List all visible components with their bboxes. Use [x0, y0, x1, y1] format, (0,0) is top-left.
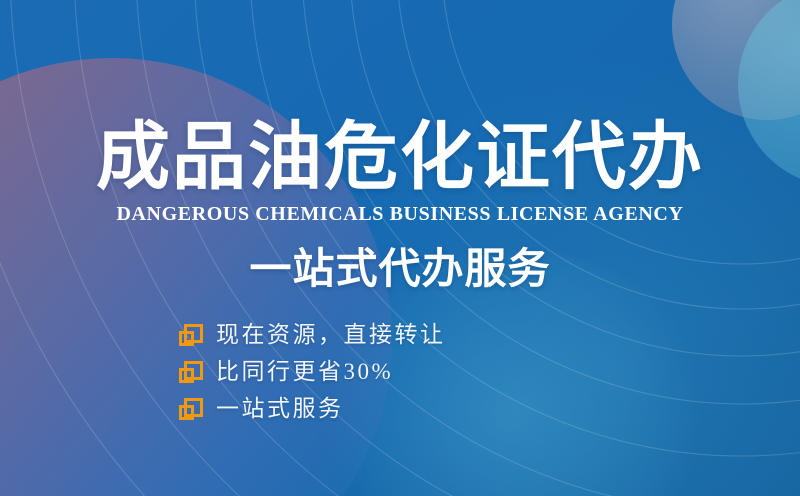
page-title: 成品油危化证代办 — [0, 116, 800, 198]
banner-content: 成品油危化证代办 DANGEROUS CHEMICALS BUSINESS LI… — [0, 0, 800, 496]
list-item: 一站式服务 — [178, 390, 446, 427]
overlapping-squares-icon — [178, 396, 204, 422]
overlapping-squares-icon — [178, 359, 204, 385]
english-subtitle: DANGEROUS CHEMICALS BUSINESS LICENSE AGE… — [0, 203, 800, 226]
list-item-label: 一站式服务 — [216, 396, 344, 422]
list-item: 现在资源，直接转让 — [178, 316, 446, 353]
feature-list: 现在资源，直接转让 比同行更省30% 一站式服务 — [178, 316, 446, 427]
overlapping-squares-icon — [178, 322, 204, 348]
chinese-subtitle-text: 一站式代办服务 — [249, 245, 550, 293]
list-item: 比同行更省30% — [178, 353, 446, 390]
list-item-label: 现在资源，直接转让 — [216, 322, 446, 348]
list-item-label: 比同行更省30% — [216, 359, 393, 385]
chinese-subtitle: 一站式代办服务 — [0, 245, 800, 293]
promo-banner: 成品油危化证代办 DANGEROUS CHEMICALS BUSINESS LI… — [0, 0, 800, 496]
